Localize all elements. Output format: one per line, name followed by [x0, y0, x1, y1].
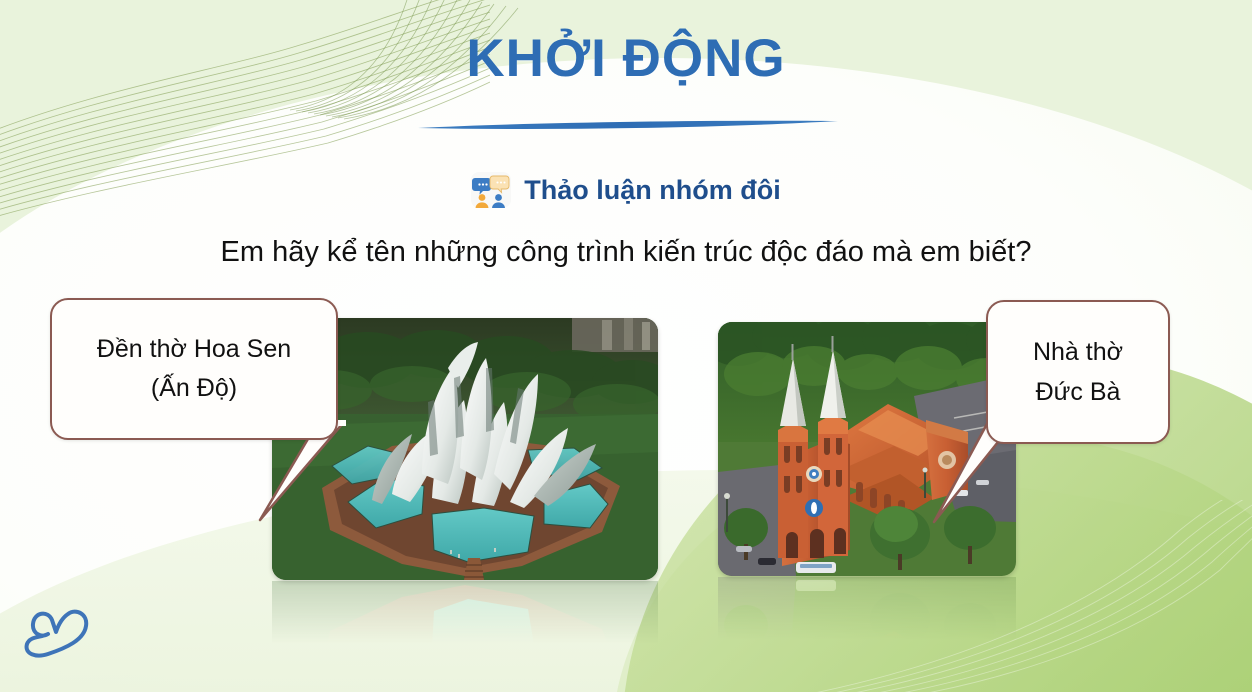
notre-dame-cathedral-saigon-photo: [718, 322, 1016, 576]
cloud-heart-logo-icon: [22, 604, 98, 660]
title-underline-rule: [416, 120, 840, 133]
slide-canvas: KHỞI ĐỘNG: [0, 0, 1252, 692]
left-callout-line-2: (Ấn Độ): [151, 369, 237, 408]
subtitle-text: Thảo luận nhóm đôi: [524, 175, 780, 206]
page-title: KHỞI ĐỘNG: [0, 28, 1252, 89]
right-callout-line-1: Nhà thờ: [1033, 332, 1123, 372]
lotus-temple-photo-reflection: [272, 581, 658, 661]
question-text: Em hãy kể tên những công trình kiến trúc…: [0, 236, 1252, 269]
cathedral-photo-reflection: [718, 577, 1016, 657]
subtitle-row: Thảo luận nhóm đôi: [0, 172, 1252, 208]
left-callout-lotus-temple[interactable]: Đền thờ Hoa Sen (Ấn Độ): [50, 298, 338, 440]
right-callout-line-2: Đức Bà: [1036, 372, 1121, 412]
discussion-pair-icon: [471, 172, 511, 208]
right-callout-cathedral[interactable]: Nhà thờ Đức Bà: [986, 300, 1170, 444]
left-callout-line-1: Đền thờ Hoa Sen: [97, 330, 291, 369]
